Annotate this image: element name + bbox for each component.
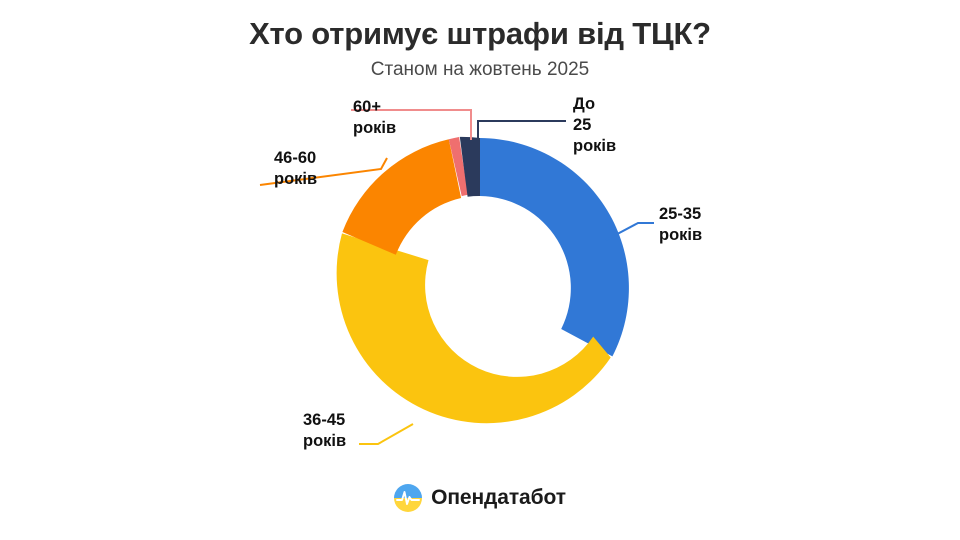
leader-line-do-25: [478, 121, 566, 138]
slice-label-46-60: 46-60 років: [274, 148, 317, 190]
slice-label-60-plus: 60+ років: [353, 97, 396, 139]
pulse-line-icon: [394, 484, 422, 512]
footer-branding: Опендатабот: [0, 484, 960, 512]
donut-slice-25-35[interactable]: [480, 138, 629, 356]
leader-line-36-45: [359, 424, 413, 444]
brand-name: Опендатабот: [431, 486, 566, 510]
donut-chart-svg: [0, 90, 960, 470]
page-title: Хто отримує штрафи від ТЦК?: [0, 16, 960, 52]
slice-label-36-45: 36-45 років: [303, 410, 346, 452]
page-subtitle: Станом на жовтень 2025: [0, 59, 960, 81]
donut-slice-46-60[interactable]: [342, 139, 461, 255]
donut-chart: До 25 років 25-35 років 36-45 років 46-6…: [0, 90, 960, 470]
opendatabot-circle-icon: [394, 484, 422, 512]
slice-label-25-35: 25-35 років: [659, 204, 702, 246]
infographic-root: Хто отримує штрафи від ТЦК? Станом на жо…: [0, 0, 960, 540]
slice-label-do-25: До 25 років: [573, 94, 616, 157]
